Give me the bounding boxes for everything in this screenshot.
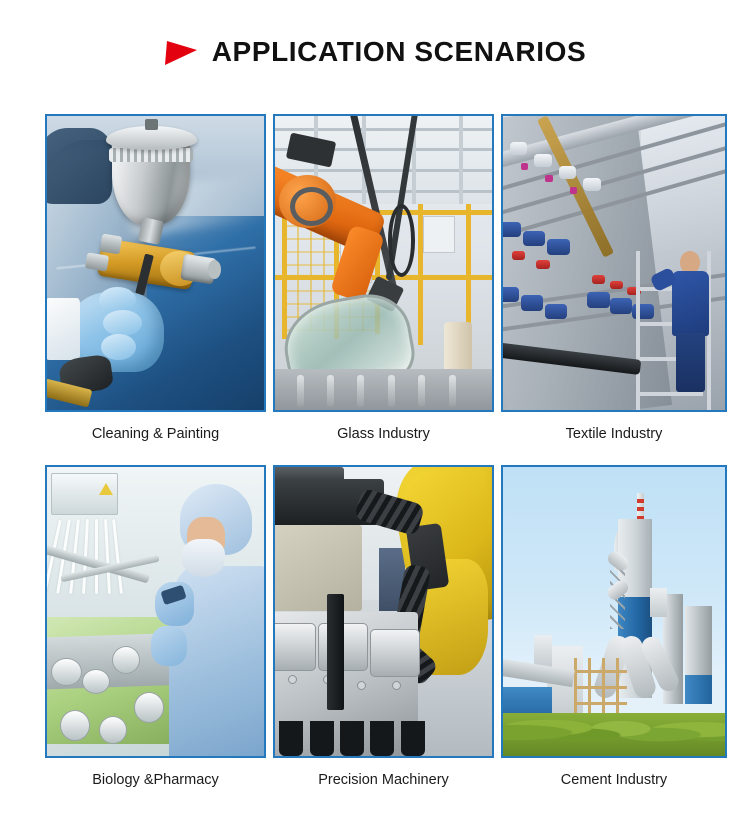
scenario-caption: Cleaning & Painting	[45, 426, 266, 443]
scenario-card-biology-pharmacy[interactable]: Biology &Pharmacy	[45, 465, 266, 789]
scenario-grid-row-2: Biology &Pharmacy	[45, 463, 721, 789]
application-scenarios-page: APPLICATION SCENARIOS Cleaning & Paintin…	[0, 0, 750, 835]
scenario-card-cleaning-painting[interactable]: Cleaning & Painting	[45, 114, 266, 443]
page-header: APPLICATION SCENARIOS	[0, 38, 750, 66]
textile-industry-photo	[503, 116, 725, 410]
glass-industry-robot-photo	[275, 116, 492, 410]
scenario-caption: Cement Industry	[501, 772, 727, 789]
biology-pharmacy-photo	[47, 467, 264, 756]
scenario-card-cement-industry[interactable]: Cement Industry	[501, 465, 727, 789]
scenario-caption: Textile Industry	[501, 426, 727, 443]
scenario-card-glass-industry[interactable]: Glass Industry	[273, 114, 494, 443]
scenario-caption: Glass Industry	[273, 426, 494, 443]
scenario-caption: Biology &Pharmacy	[45, 772, 266, 789]
scenario-image-frame	[45, 114, 266, 412]
scenario-grid-row-1: Cleaning & Painting	[45, 114, 721, 443]
precision-machinery-photo	[275, 467, 492, 756]
scenario-caption: Precision Machinery	[273, 772, 494, 789]
scenario-card-precision-machinery[interactable]: Precision Machinery	[273, 465, 494, 789]
scenario-image-frame	[273, 114, 494, 412]
scenario-image-frame	[501, 114, 727, 412]
page-title: APPLICATION SCENARIOS	[212, 38, 587, 66]
spray-gun-painting-photo	[47, 116, 264, 410]
scenario-image-frame	[501, 465, 727, 758]
scenario-image-frame	[45, 465, 266, 758]
scenario-image-frame	[273, 465, 494, 758]
red-triangle-icon	[164, 39, 198, 66]
scenario-card-textile-industry[interactable]: Textile Industry	[501, 114, 727, 443]
cement-industry-photo	[503, 467, 725, 756]
